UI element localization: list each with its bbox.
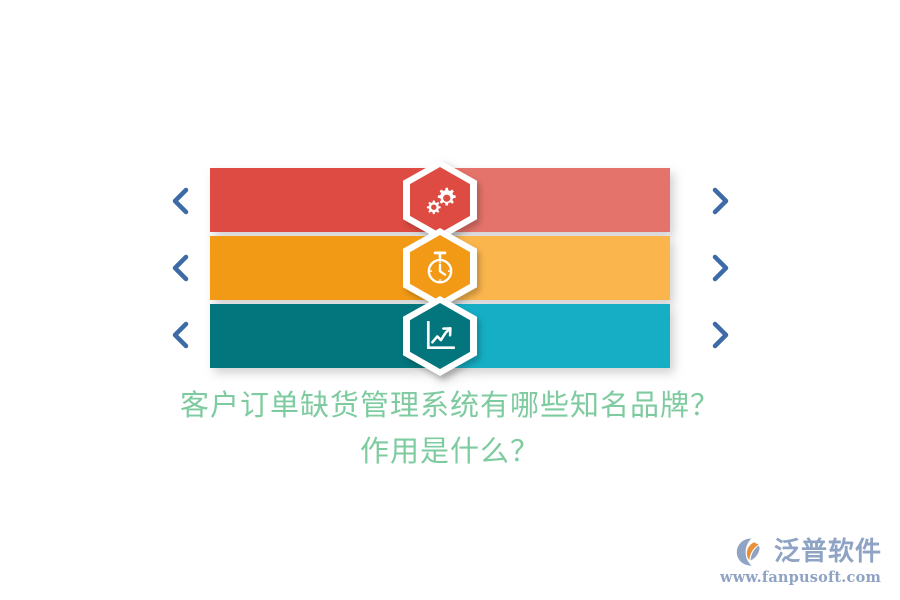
infographic-banner bbox=[150, 160, 750, 375]
chevron-right-row-3[interactable] bbox=[690, 301, 750, 368]
hex-badge-row-3[interactable] bbox=[403, 296, 477, 376]
color-bands-stack bbox=[210, 168, 670, 368]
gears-icon bbox=[422, 182, 458, 218]
chevron-left-row-2[interactable] bbox=[150, 235, 210, 302]
chevron-left-row-1[interactable] bbox=[150, 168, 210, 235]
chevron-right-row-1[interactable] bbox=[690, 168, 750, 235]
band-row-2 bbox=[210, 236, 670, 300]
brand-logo-row: 泛普软件 bbox=[735, 537, 882, 567]
page-title: 客户订单缺货管理系统有哪些知名品牌？ 作用是什么？ bbox=[0, 382, 900, 474]
chevron-left-row-3[interactable] bbox=[150, 301, 210, 368]
chevron-column-left bbox=[150, 168, 210, 368]
brand-name: 泛普软件 bbox=[774, 539, 882, 565]
growth-chart-icon bbox=[422, 318, 458, 354]
chevron-right-row-2[interactable] bbox=[690, 235, 750, 302]
fanpu-logo-mark-icon bbox=[735, 537, 769, 567]
band-row-1 bbox=[210, 168, 670, 232]
brand-logo[interactable]: 泛普软件 www.fanpusoft.com bbox=[720, 537, 882, 586]
chevron-column-right bbox=[690, 168, 750, 368]
stopwatch-icon bbox=[422, 249, 458, 287]
brand-url[interactable]: www.fanpusoft.com bbox=[720, 569, 881, 586]
band-row-3 bbox=[210, 304, 670, 368]
